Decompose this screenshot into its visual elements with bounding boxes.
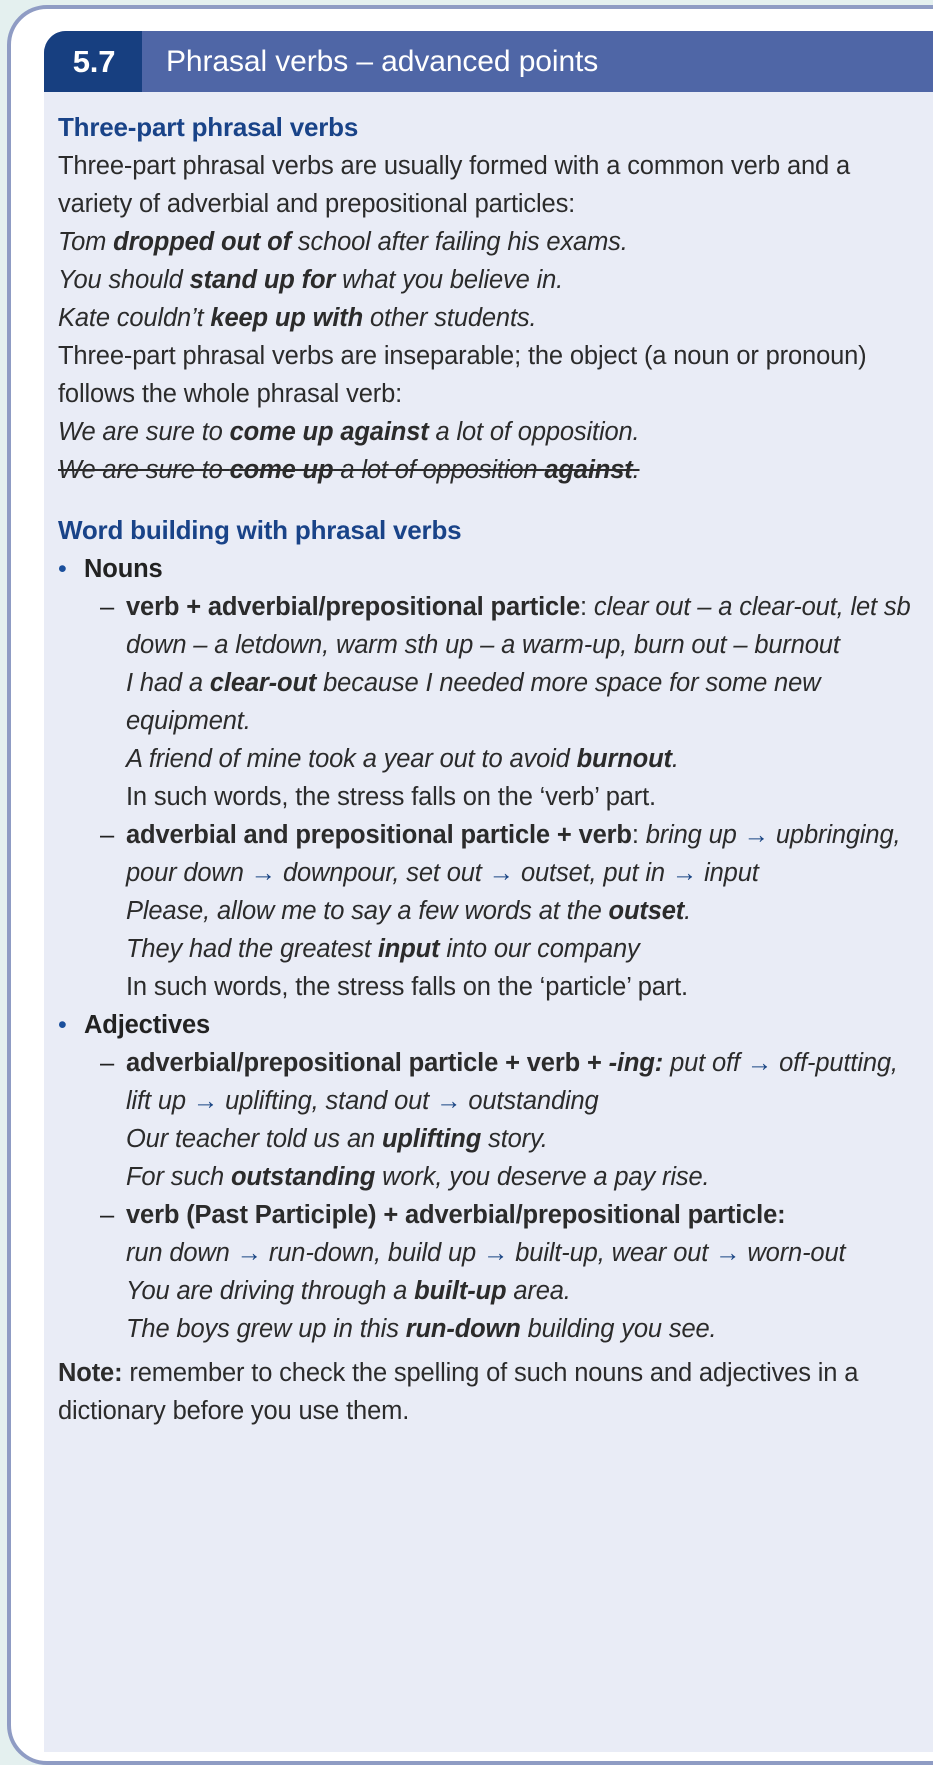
arrow-icon: →	[715, 1239, 740, 1267]
text-run: dropped out of	[113, 228, 291, 256]
sub-content: adverbial/prepositional particle + verb …	[126, 1044, 922, 1196]
list-item: –adverbial and prepositional particle + …	[100, 816, 922, 1006]
dash-marker-icon: –	[100, 588, 126, 626]
example-sentence: For such outstanding work, you deserve a…	[126, 1158, 922, 1196]
body-paragraph: Three-part phrasal verbs are usually for…	[58, 147, 922, 223]
unit-title: Phrasal verbs – advanced points	[142, 31, 598, 92]
text-run: .	[684, 897, 691, 925]
text-run: against	[544, 456, 632, 484]
body-paragraph: Three-part phrasal verbs are inseparable…	[58, 337, 922, 413]
pattern-definition: verb + adverbial/prepositional particle:…	[126, 588, 922, 664]
text-run: adverbial/prepositional particle + verb …	[126, 1049, 609, 1077]
text-run: built-up, wear out	[508, 1239, 715, 1267]
text-run: what you believe in.	[335, 266, 563, 294]
text-run: area.	[506, 1277, 570, 1305]
text-run: Three-part phrasal verbs are inseparable…	[58, 342, 867, 408]
example-sentence: Tom dropped out of school after failing …	[58, 223, 922, 261]
unit-number-badge: 5.7	[44, 31, 142, 92]
arrow-icon: →	[251, 859, 276, 887]
example-sentence: Please, allow me to say a few words at t…	[126, 892, 922, 930]
text-run: stand up for	[190, 266, 336, 294]
bullet-label: Adjectives	[84, 1006, 210, 1044]
text-run: into our company	[439, 935, 639, 963]
text-run: come up against	[230, 418, 429, 446]
section-heading: Three-part phrasal verbs	[58, 112, 922, 143]
text-run: You should	[58, 266, 190, 294]
bullet-row: •Nouns	[58, 550, 922, 588]
text-run: For such	[126, 1163, 231, 1191]
incorrect-example-sentence: We are sure to come up a lot of oppositi…	[58, 451, 922, 489]
text-run: remember to check the spelling of such n…	[58, 1359, 858, 1425]
text-run: outstanding	[461, 1087, 598, 1115]
text-run: We are sure to	[58, 418, 230, 446]
dash-marker-icon: –	[100, 1196, 126, 1234]
example-sentence: A friend of mine took a year out to avoi…	[126, 740, 922, 778]
text-run: run down	[126, 1239, 237, 1267]
example-sentence: The boys grew up in this run-down buildi…	[126, 1310, 922, 1348]
sub-row: –verb (Past Participle) + adverbial/prep…	[100, 1196, 922, 1348]
stress-note: In such words, the stress falls on the ‘…	[126, 778, 922, 816]
text-run: Kate couldn’t	[58, 304, 210, 332]
word-building-list: •Nouns–verb + adverbial/prepositional pa…	[58, 550, 922, 1348]
text-run: You are driving through a	[126, 1277, 414, 1305]
text-run: input	[697, 859, 758, 887]
text-run: put off	[670, 1049, 747, 1077]
text-run: uplifting, stand out	[218, 1087, 436, 1115]
text-run: A friend of mine took a year out to avoi…	[126, 745, 577, 773]
text-run: burnout	[577, 745, 672, 773]
example-sentence: They had the greatest input into our com…	[126, 930, 922, 968]
unit-header: 5.7 Phrasal verbs – advanced points	[44, 31, 933, 92]
arrow-icon: →	[483, 1239, 508, 1267]
text-run: work, you deserve a pay rise.	[375, 1163, 709, 1191]
text-run: story.	[481, 1125, 548, 1153]
pattern-definition: adverbial/prepositional particle + verb …	[126, 1044, 922, 1120]
stress-note: In such words, the stress falls on the ‘…	[126, 968, 922, 1006]
text-run: school after failing his exams.	[291, 228, 628, 256]
text-run: built-up	[414, 1277, 506, 1305]
example-sentence: run down → run-down, build up → built-up…	[126, 1234, 922, 1272]
example-sentence: You should stand up for what you believe…	[58, 261, 922, 299]
bullet-dot-icon: •	[58, 1006, 84, 1044]
text-run: They had the greatest	[126, 935, 378, 963]
page-canvas: 5.7 Phrasal verbs – advanced points Thre…	[0, 0, 933, 1743]
text-run: downpour, set out	[276, 859, 489, 887]
text-run: .	[633, 456, 640, 484]
unit-block: 5.7 Phrasal verbs – advanced points Thre…	[44, 31, 933, 1752]
text-run: adverbial and prepositional particle + v…	[126, 821, 632, 849]
pattern-definition: verb (Past Participle) + adverbial/prepo…	[126, 1196, 922, 1234]
example-sentence: I had a clear-out because I needed more …	[126, 664, 922, 740]
text-run: We are sure to	[58, 456, 230, 484]
section-heading: Word building with phrasal verbs	[58, 515, 922, 546]
text-run: run-down	[406, 1315, 521, 1343]
text-run: Tom	[58, 228, 113, 256]
sub-content: adverbial and prepositional particle + v…	[126, 816, 922, 1006]
text-run: bring up	[646, 821, 744, 849]
example-sentence: You are driving through a built-up area.	[126, 1272, 922, 1310]
text-run: outset	[609, 897, 685, 925]
arrow-icon: →	[672, 859, 697, 887]
text-run: other students.	[363, 304, 536, 332]
pattern-sublist: –adverbial/prepositional particle + verb…	[58, 1044, 922, 1348]
text-run: a lot of opposition.	[429, 418, 640, 446]
text-run: verb + adverbial/prepositional particle	[126, 593, 580, 621]
sub-row: –adverbial and prepositional particle + …	[100, 816, 922, 1006]
list-item: –adverbial/prepositional particle + verb…	[100, 1044, 922, 1196]
example-sentence: Kate couldn’t keep up with other student…	[58, 299, 922, 337]
text-run: a lot of opposition	[333, 456, 544, 484]
text-run: Please, allow me to say a few words at t…	[126, 897, 609, 925]
sub-row: –verb + adverbial/prepositional particle…	[100, 588, 922, 816]
text-run: Note:	[58, 1359, 122, 1387]
dash-marker-icon: –	[100, 816, 126, 854]
example-sentence: We are sure to come up against a lot of …	[58, 413, 922, 451]
sub-row: –adverbial/prepositional particle + verb…	[100, 1044, 922, 1196]
list-item: –verb (Past Participle) + adverbial/prep…	[100, 1196, 922, 1348]
text-run: worn-out	[740, 1239, 845, 1267]
sub-content: verb (Past Participle) + adverbial/prepo…	[126, 1196, 922, 1348]
bullet-dot-icon: •	[58, 550, 84, 588]
text-run: In such words, the stress falls on the ‘…	[126, 973, 688, 1001]
note-paragraph: Note: remember to check the spelling of …	[58, 1354, 922, 1430]
arrow-icon: →	[436, 1087, 461, 1115]
text-run: :	[580, 593, 594, 621]
dash-marker-icon: –	[100, 1044, 126, 1082]
arrow-icon: →	[747, 1049, 772, 1077]
text-run: come up	[230, 456, 334, 484]
text-run: -ing:	[609, 1049, 663, 1077]
text-run: :	[632, 821, 646, 849]
text-run: clear-out	[210, 669, 316, 697]
list-item: •Adjectives–adverbial/prepositional part…	[58, 1006, 922, 1348]
text-run: Our teacher told us an	[126, 1125, 382, 1153]
list-item: –verb + adverbial/prepositional particle…	[100, 588, 922, 816]
text-run: uplifting	[382, 1125, 481, 1153]
text-run: Three-part phrasal verbs are usually for…	[58, 152, 850, 218]
pattern-sublist: –verb + adverbial/prepositional particle…	[58, 588, 922, 1006]
text-run: input	[378, 935, 440, 963]
text-run: I had a	[126, 669, 210, 697]
arrow-icon: →	[489, 859, 514, 887]
text-run: outset, put in	[514, 859, 672, 887]
arrow-icon: →	[237, 1239, 262, 1267]
text-run: outstanding	[231, 1163, 375, 1191]
list-item: •Nouns–verb + adverbial/prepositional pa…	[58, 550, 922, 1006]
text-run: In such words, the stress falls on the ‘…	[126, 783, 656, 811]
sections-container: Three-part phrasal verbsThree-part phras…	[58, 112, 922, 1348]
bullet-label: Nouns	[84, 550, 163, 588]
text-run: verb (Past Participle) + adverbial/prepo…	[126, 1201, 785, 1229]
example-sentence: Our teacher told us an uplifting story.	[126, 1120, 922, 1158]
text-run: run-down, build up	[262, 1239, 483, 1267]
arrow-icon: →	[193, 1087, 218, 1115]
unit-content: Three-part phrasal verbsThree-part phras…	[44, 92, 933, 1752]
arrow-icon: →	[744, 821, 769, 849]
text-run: .	[672, 745, 679, 773]
page-card: 5.7 Phrasal verbs – advanced points Thre…	[7, 5, 933, 1765]
bullet-row: •Adjectives	[58, 1006, 922, 1044]
text-run: The boys grew up in this	[126, 1315, 406, 1343]
text-run: keep up with	[210, 304, 363, 332]
sub-content: verb + adverbial/prepositional particle:…	[126, 588, 922, 816]
pattern-definition: adverbial and prepositional particle + v…	[126, 816, 922, 892]
text-run: building you see.	[521, 1315, 717, 1343]
